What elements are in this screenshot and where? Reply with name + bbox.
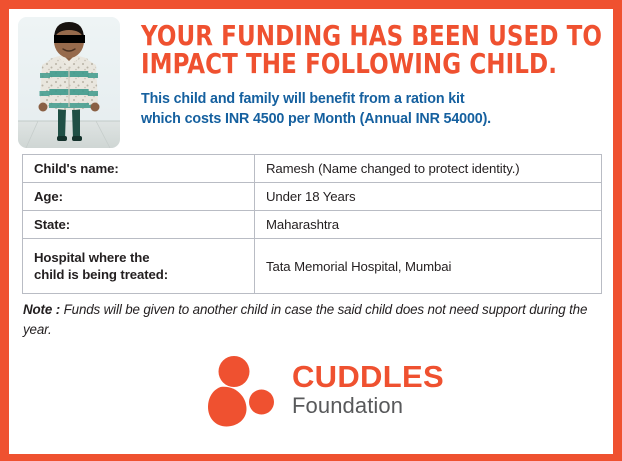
note-body: Funds will be given to another child in … xyxy=(23,302,587,337)
row-value-child-name: Ramesh (Name changed to protect identity… xyxy=(255,155,602,183)
cuddles-foundation-logo: CUDDLES Foundation xyxy=(206,354,444,428)
child-info-table: Child's name: Ramesh (Name changed to pr… xyxy=(22,154,602,294)
row-label-child-name: Child's name: xyxy=(23,155,255,183)
headline-line-2: impact the following child. xyxy=(141,50,602,78)
row-label-state: State: xyxy=(23,211,255,239)
row-label-hospital-line-1: Hospital where the xyxy=(34,250,149,265)
row-label-hospital: Hospital where the child is being treate… xyxy=(23,239,255,294)
row-label-hospital-line-2: child is being treated: xyxy=(34,267,168,282)
header-section: Your funding has been used to impact the… xyxy=(9,9,613,148)
header-text-block: Your funding has been used to impact the… xyxy=(120,17,622,129)
card-inner: Your funding has been used to impact the… xyxy=(9,9,613,454)
subtitle-line-2: which costs INR 4500 per Month (Annual I… xyxy=(141,110,622,130)
row-value-state: Maharashtra xyxy=(255,211,602,239)
row-value-hospital: Tata Memorial Hospital, Mumbai xyxy=(255,239,602,294)
subtitle: This child and family will benefit from … xyxy=(141,90,622,129)
note-prefix: Note : xyxy=(23,302,60,317)
table-row: State: Maharashtra xyxy=(23,211,602,239)
subtitle-line-1: This child and family will benefit from … xyxy=(141,91,464,107)
table-row: Hospital where the child is being treate… xyxy=(23,239,602,294)
logo-subtext: Foundation xyxy=(292,393,444,419)
child-photo-image xyxy=(18,17,120,148)
logo-text-block: CUDDLES Foundation xyxy=(292,361,444,421)
cuddles-logo-mark-icon xyxy=(206,354,282,428)
certificate-card: Your funding has been used to impact the… xyxy=(0,0,622,461)
row-label-age: Age: xyxy=(23,183,255,211)
table-row: Child's name: Ramesh (Name changed to pr… xyxy=(23,155,602,183)
child-photo xyxy=(18,17,120,148)
row-value-age: Under 18 Years xyxy=(255,183,602,211)
note-text: Note : Funds will be given to another ch… xyxy=(23,300,598,340)
table-row: Age: Under 18 Years xyxy=(23,183,602,211)
page-title: Your funding has been used to impact the… xyxy=(141,22,602,78)
logo-wordmark: CUDDLES xyxy=(292,361,444,392)
